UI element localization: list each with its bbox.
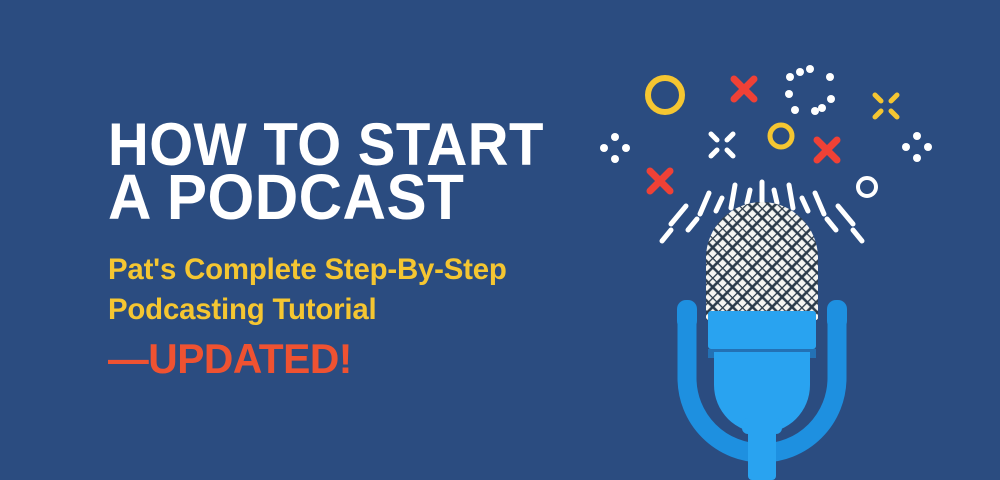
headline-line-2: A PODCAST	[108, 171, 634, 224]
text-block: HOW TO START A PODCAST Pat's Complete St…	[108, 118, 668, 382]
dot-cluster-right-icon	[902, 132, 932, 162]
ring-yellow-large-icon	[648, 78, 682, 112]
sparkle-white-icon	[711, 134, 733, 156]
podcast-microphone-icon	[677, 196, 847, 480]
podcast-banner: HOW TO START A PODCAST Pat's Complete St…	[0, 0, 1000, 480]
ring-yellow-small-icon	[770, 125, 792, 147]
cross-red-mid-icon	[817, 140, 837, 160]
subhead-line-2: Podcasting Tutorial	[108, 290, 657, 330]
sparkle-yellow-icon	[875, 95, 897, 117]
cross-red-top-icon	[734, 79, 754, 99]
subhead-line-1: Pat's Complete Step-By-Step	[108, 250, 657, 290]
ring-white-small-icon	[858, 178, 876, 196]
dot-ring-white-icon	[785, 65, 835, 115]
updated-badge: —UPDATED!	[108, 336, 651, 382]
